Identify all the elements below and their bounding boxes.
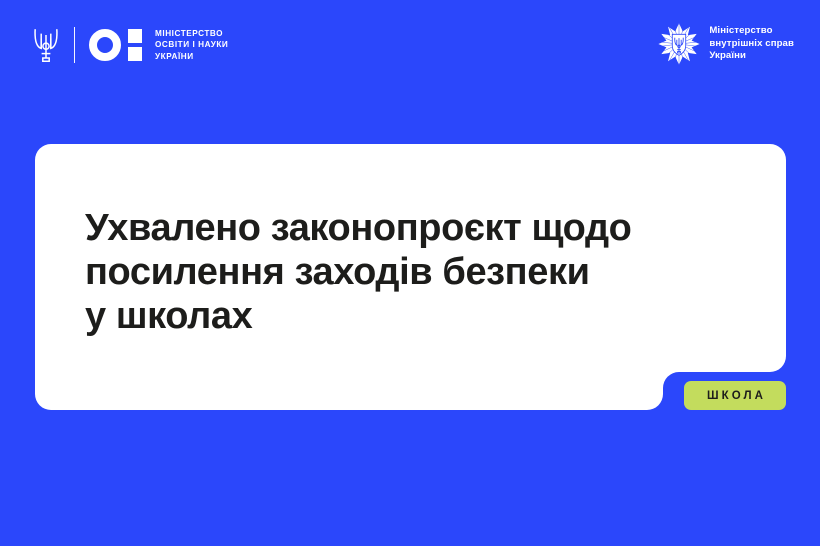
mvs-text-line-2: внутрішніх справ bbox=[709, 38, 794, 51]
ukraine-trident-icon bbox=[33, 27, 59, 63]
page-title: Ухвалено законопроєкт щодо посилення зах… bbox=[85, 206, 685, 338]
mon-square-bottom bbox=[128, 47, 142, 61]
mon-text-line-1: МІНІСТЕРСТВО bbox=[155, 28, 228, 40]
logo-divider bbox=[74, 27, 75, 63]
status-badge: ШКОЛА bbox=[684, 381, 786, 410]
mvs-text-line-1: Міністерство bbox=[709, 25, 794, 38]
headline-line-3: у школах bbox=[85, 294, 685, 338]
headline-line-1: Ухвалено законопроєкт щодо bbox=[85, 206, 685, 250]
mon-text-line-3: УКРАЇНИ bbox=[155, 51, 228, 63]
headline-line-2: посилення заходів безпеки bbox=[85, 250, 685, 294]
mon-square-shapes bbox=[128, 29, 142, 61]
content-card: Ухвалено законопроєкт щодо посилення зах… bbox=[35, 144, 786, 410]
mvs-text-line-3: України bbox=[709, 50, 794, 63]
mvs-logo: Міністерство внутрішніх справ України bbox=[658, 22, 794, 66]
mvs-logo-text: Міністерство внутрішніх справ України bbox=[709, 25, 794, 63]
mon-square-top bbox=[128, 29, 142, 43]
mvs-star-shield-trident-icon bbox=[658, 23, 700, 65]
status-badge-label: ШКОЛА bbox=[707, 390, 766, 402]
announcement-card-slide: МІНІСТЕРСТВО ОСВІТИ І НАУКИ УКРАЇНИ bbox=[0, 0, 820, 546]
header: МІНІСТЕРСТВО ОСВІТИ І НАУКИ УКРАЇНИ bbox=[0, 0, 820, 96]
mon-o-square-logo-icon bbox=[89, 28, 142, 62]
mon-logo: МІНІСТЕРСТВО ОСВІТИ І НАУКИ УКРАЇНИ bbox=[33, 22, 228, 68]
mon-text-line-2: ОСВІТИ І НАУКИ bbox=[155, 39, 228, 51]
mon-logo-text: МІНІСТЕРСТВО ОСВІТИ І НАУКИ УКРАЇНИ bbox=[155, 28, 228, 63]
mon-ring-shape bbox=[89, 29, 121, 61]
